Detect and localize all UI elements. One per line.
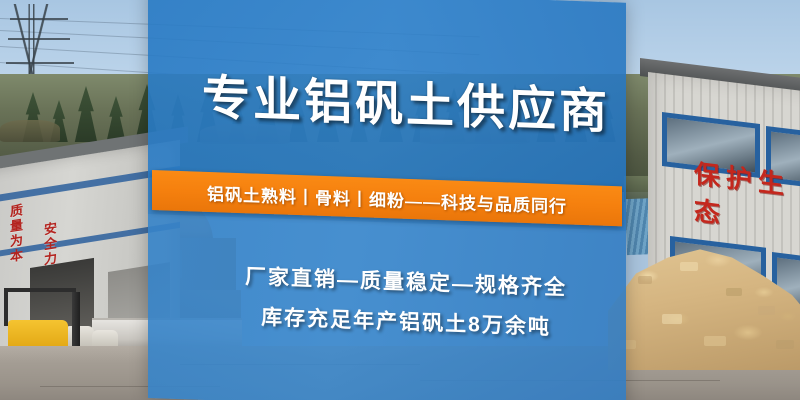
pine-tree: [104, 96, 128, 142]
ore-chunk: [704, 336, 726, 346]
pylon-crossarm: [8, 38, 70, 40]
promotional-banner: 质量为本 安全力量 保护生态: [0, 0, 800, 400]
shrub: [0, 120, 60, 142]
ore-chunk: [662, 314, 682, 324]
ore-chunk: [638, 276, 652, 284]
ore-chunk: [758, 306, 775, 315]
ore-chunk: [680, 262, 698, 271]
ore-chunk: [776, 340, 794, 349]
panel-lower-section: [148, 214, 626, 400]
pylon-crossarm: [6, 62, 74, 64]
pylon-crossarm: [10, 18, 68, 20]
blue-overlay-panel: [148, 0, 626, 400]
pine-tree: [72, 86, 100, 142]
left-building-slogan-1: 质量为本: [6, 202, 25, 265]
ore-chunk: [726, 288, 742, 296]
right-building-slogan: 保护生态: [694, 153, 800, 240]
